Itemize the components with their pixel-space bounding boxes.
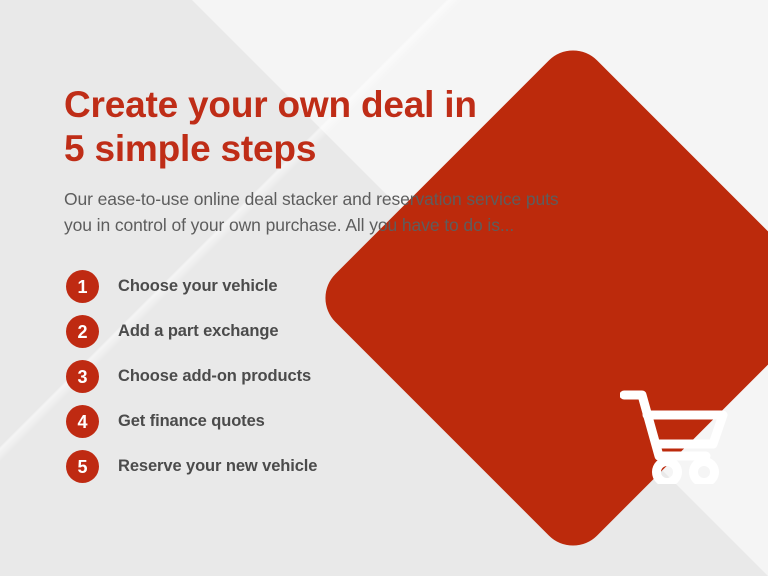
step-number-badge: 2 — [66, 315, 99, 348]
page-title: Create your own deal in 5 simple steps — [64, 83, 684, 171]
list-item: 1 Choose your vehicle — [66, 264, 496, 309]
step-number-badge: 4 — [66, 405, 99, 438]
intro-line-2: you in control of your own purchase. All… — [64, 212, 704, 238]
step-label: Get finance quotes — [118, 412, 265, 431]
intro-line-1: Our ease-to-use online deal stacker and … — [64, 186, 704, 212]
intro-paragraph: Our ease-to-use online deal stacker and … — [64, 186, 704, 238]
step-label: Choose your vehicle — [118, 277, 277, 296]
step-number-badge: 1 — [66, 270, 99, 303]
headline-line-1: Create your own deal in — [64, 83, 684, 127]
list-item: 4 Get finance quotes — [66, 399, 496, 444]
steps-list: 1 Choose your vehicle 2 Add a part excha… — [66, 264, 496, 489]
list-item: 3 Choose add-on products — [66, 354, 496, 399]
list-item: 5 Reserve your new vehicle — [66, 444, 496, 489]
step-number-badge: 3 — [66, 360, 99, 393]
slide-canvas: Create your own deal in 5 simple steps O… — [0, 0, 768, 576]
step-label: Reserve your new vehicle — [118, 457, 317, 476]
step-label: Choose add-on products — [118, 367, 311, 386]
shopping-cart-icon — [620, 386, 730, 484]
list-item: 2 Add a part exchange — [66, 309, 496, 354]
step-label: Add a part exchange — [118, 322, 278, 341]
headline-line-2: 5 simple steps — [64, 127, 684, 171]
step-number-badge: 5 — [66, 450, 99, 483]
